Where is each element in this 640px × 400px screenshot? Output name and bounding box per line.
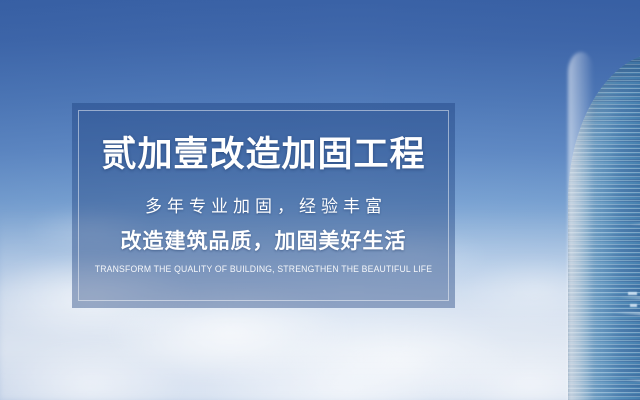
skyscraper-window-glint xyxy=(628,292,637,295)
banner-headline: 贰加壹改造加固工程 xyxy=(72,137,455,172)
banner-english-tagline: TRANSFORM THE QUALITY OF BUILDING, STREN… xyxy=(80,265,448,274)
skyscraper-body xyxy=(568,52,640,400)
skyscraper-highlight-edge xyxy=(568,52,594,400)
skyscraper-window-glint xyxy=(630,304,637,307)
skyscraper-image xyxy=(540,0,640,400)
banner-tagline: 改造建筑品质，加固美好生活 xyxy=(72,231,455,252)
banner-subheadline: 多年专业加固，经验丰富 xyxy=(72,198,455,215)
promotional-banner: 贰加壹改造加固工程 多年专业加固，经验丰富 改造建筑品质，加固美好生活 TRAN… xyxy=(0,0,640,400)
text-panel: 贰加壹改造加固工程 多年专业加固，经验丰富 改造建筑品质，加固美好生活 TRAN… xyxy=(72,103,455,308)
